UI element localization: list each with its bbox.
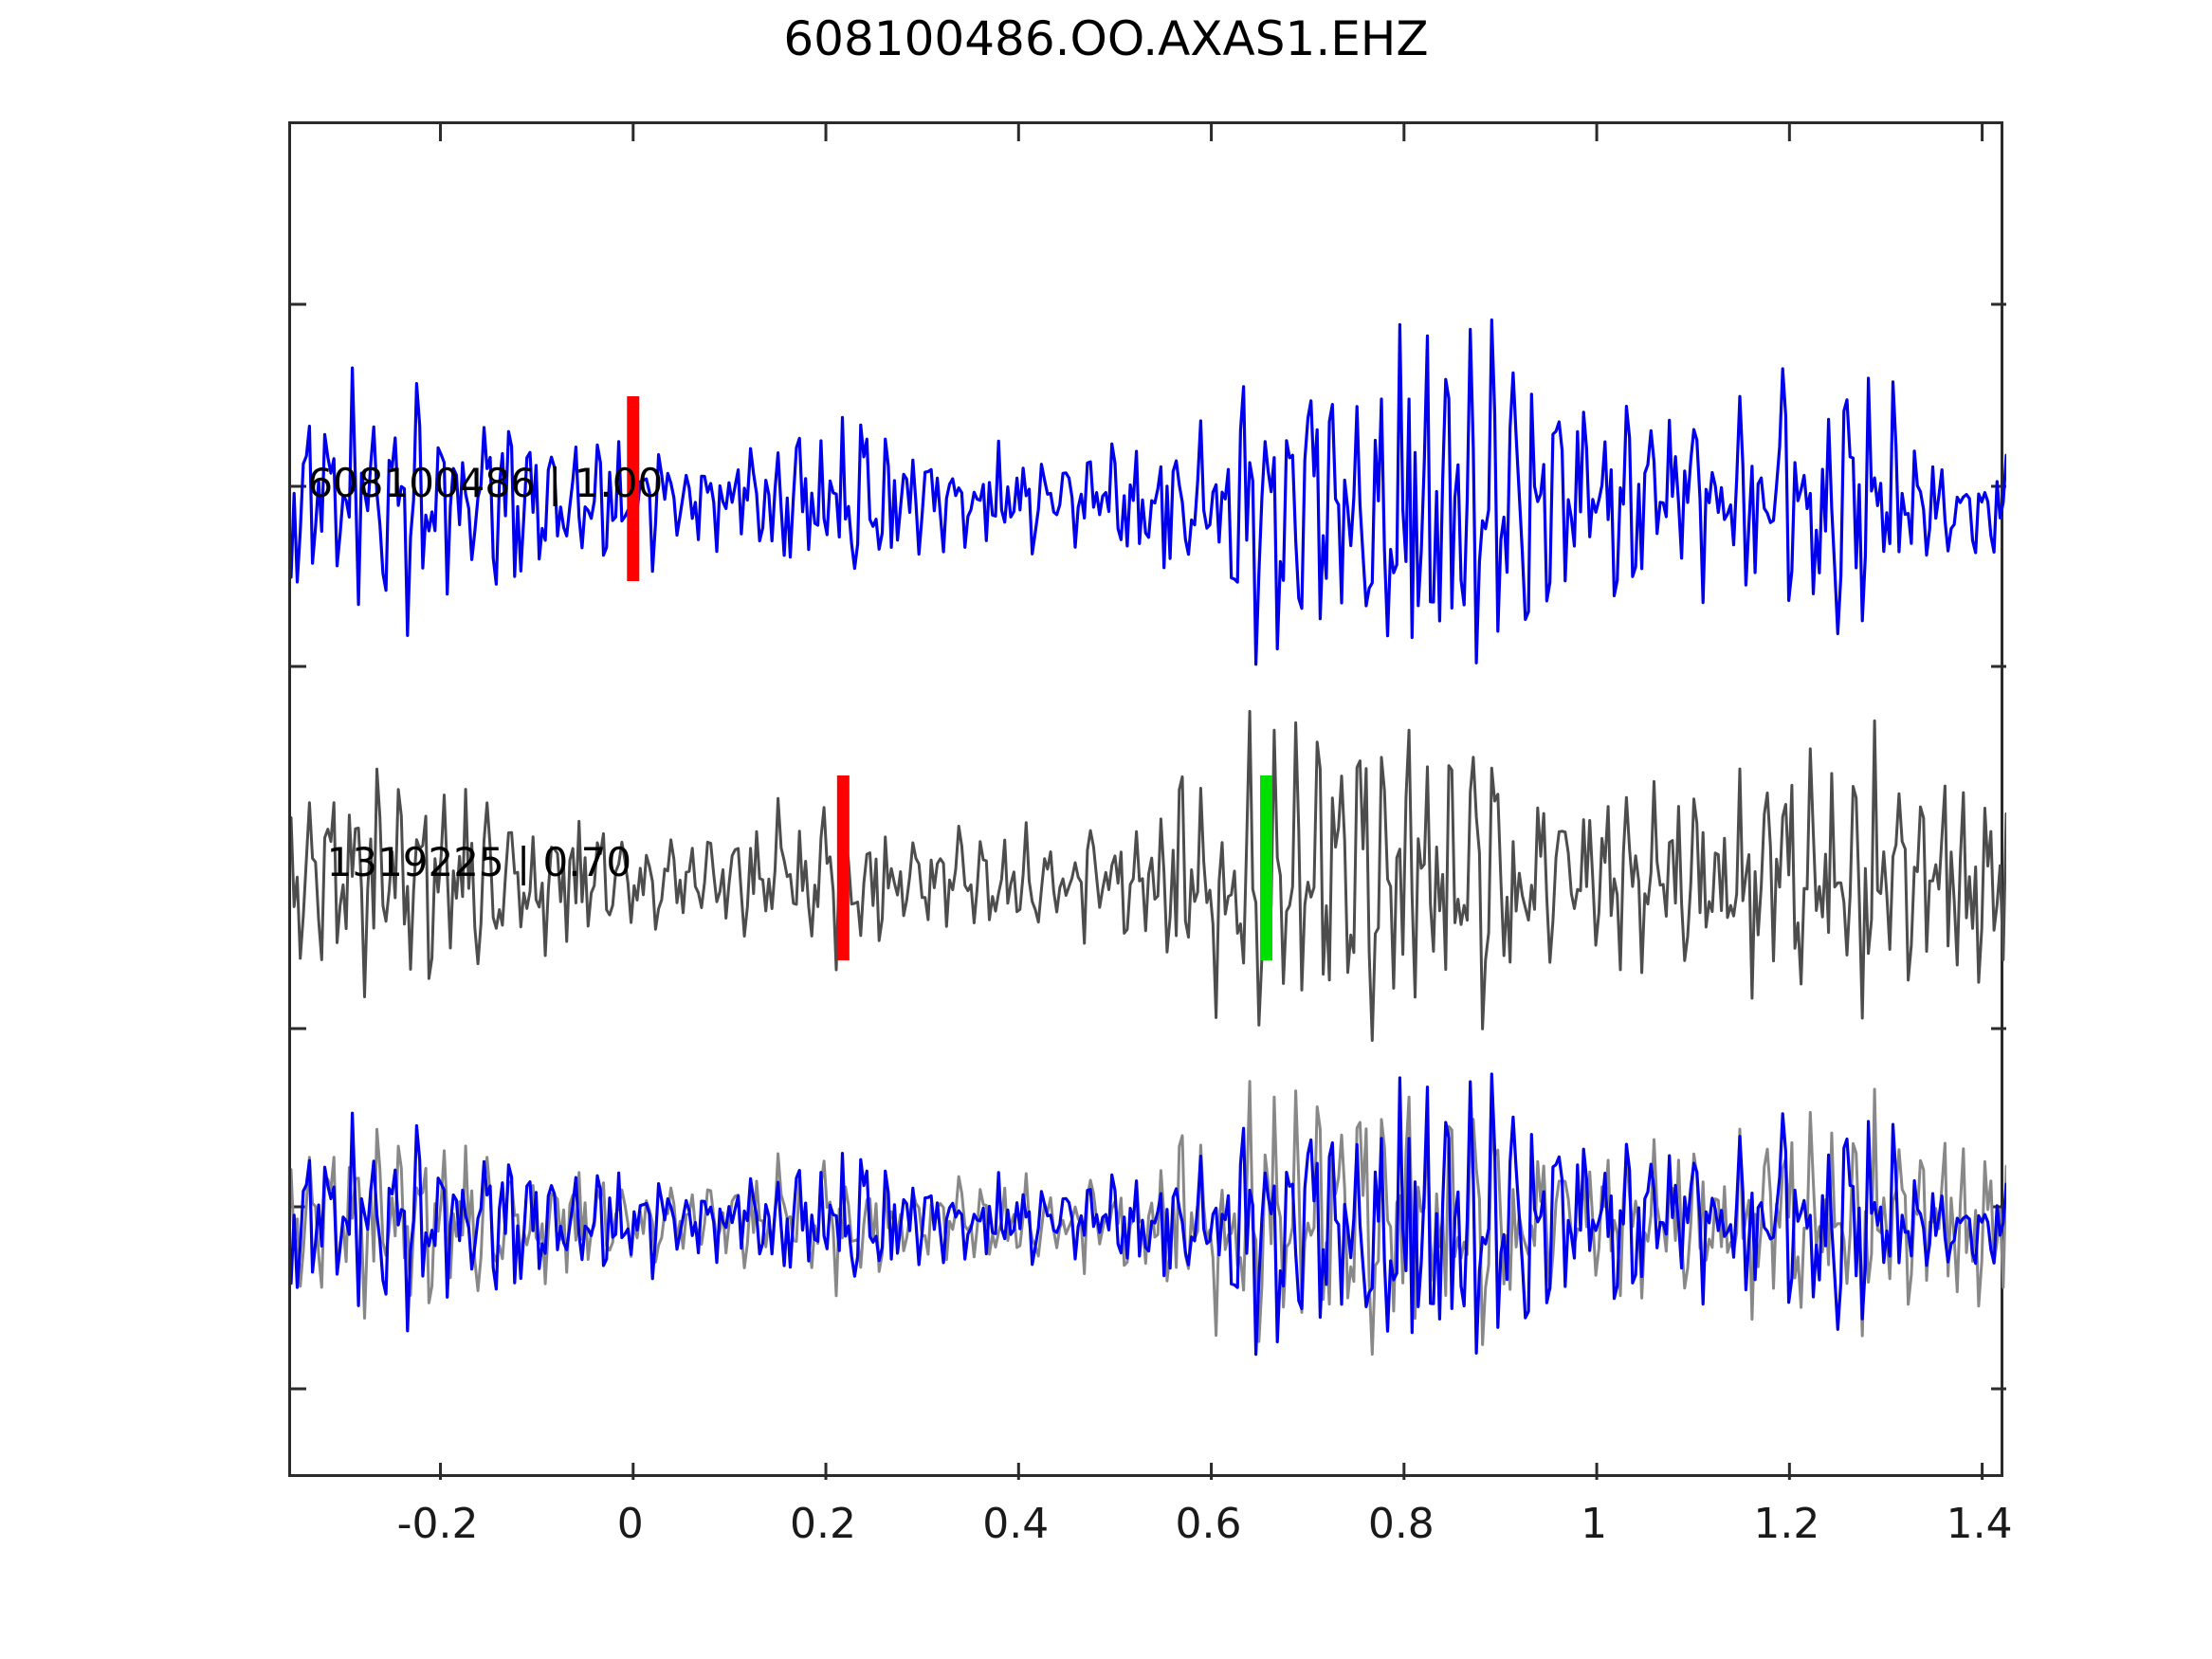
x-tick-label: 0.2	[790, 1500, 856, 1548]
figure-root: 608100486.OO.AXAS1.EHZ -0.200.20.40.60.8…	[0, 0, 2212, 1659]
tick-marks	[291, 124, 2006, 1480]
trace-2-label: 1319225 | 0.70	[327, 839, 631, 885]
x-tick-label: -0.2	[397, 1500, 479, 1548]
x-tick-label: 1.2	[1753, 1500, 1819, 1548]
x-tick-label: 0.8	[1368, 1500, 1435, 1548]
waveform-canvas	[291, 124, 2006, 1480]
x-tick-label: 0.4	[982, 1500, 1049, 1548]
x-tick-label: 1	[1581, 1500, 1607, 1548]
plot-area	[288, 121, 2003, 1477]
x-tick-label: 0	[617, 1500, 644, 1548]
x-tick-label: 0.6	[1176, 1500, 1242, 1548]
page-title: 608100486.OO.AXAS1.EHZ	[0, 11, 2212, 66]
trace-1-label: 608100486 | 1.00	[307, 460, 663, 506]
x-tick-label: 1.4	[1947, 1500, 2013, 1548]
